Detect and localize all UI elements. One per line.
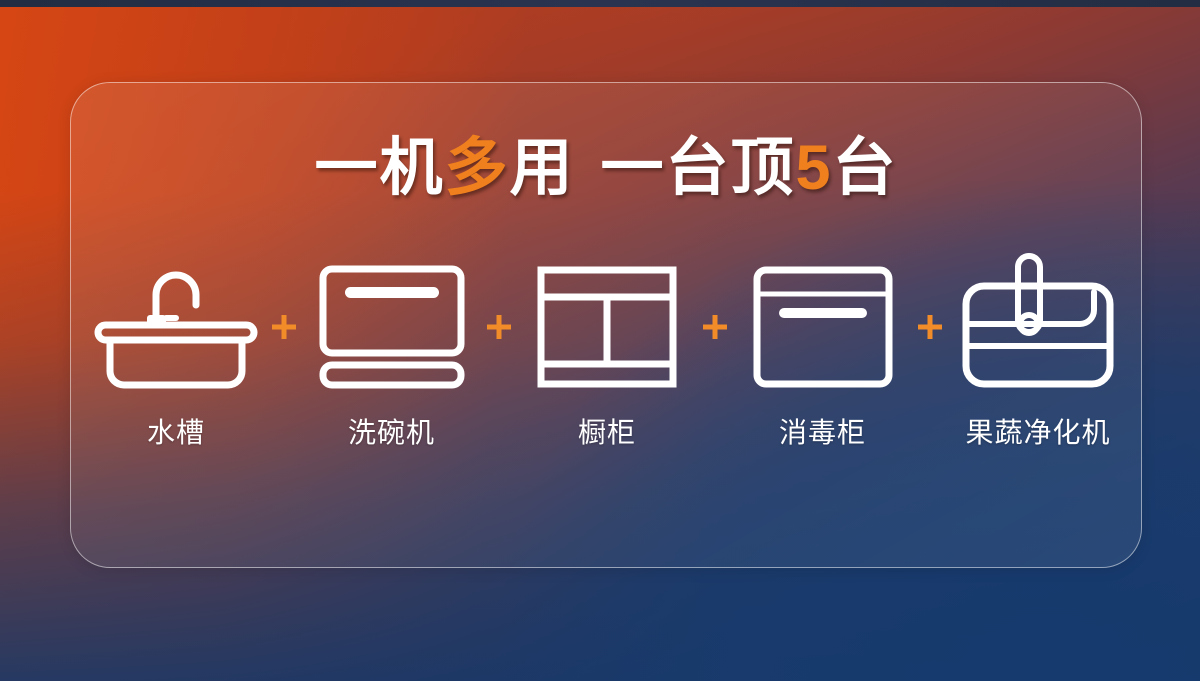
sterilizer-cabinet-icon — [753, 259, 893, 394]
title-accent-2: 5 — [795, 133, 832, 203]
feature-item-sterilizer: 消毒柜 — [738, 259, 908, 451]
fruit-vegetable-purifier-icon — [958, 259, 1118, 394]
title-part-3: 一台顶 — [600, 133, 795, 203]
title-part-2: 用 — [509, 133, 574, 203]
promo-banner: 一机多用一台顶5台 水槽 — [0, 0, 1200, 681]
plus-icon — [482, 259, 516, 394]
feature-item-dishwasher: 洗碗机 — [307, 259, 477, 451]
top-edge-strip — [0, 0, 1200, 7]
sink-icon — [94, 259, 258, 394]
plus-icon — [913, 259, 947, 394]
plus-icon — [267, 259, 301, 394]
feature-card: 一机多用一台顶5台 水槽 — [70, 82, 1142, 568]
feature-item-row: 水槽 洗碗机 — [91, 259, 1123, 451]
feature-item-cabinet: 橱柜 — [522, 259, 692, 451]
feature-item-label: 橱柜 — [578, 411, 636, 451]
feature-item-label: 水槽 — [147, 411, 205, 451]
feature-item-label: 洗碗机 — [348, 411, 435, 451]
feature-item-sink: 水槽 — [91, 259, 261, 451]
page-title: 一机多用一台顶5台 — [71, 137, 1141, 200]
feature-item-purifier: 果蔬净化机 — [953, 259, 1123, 451]
plus-icon — [698, 259, 732, 394]
title-part-1: 一机 — [314, 133, 444, 203]
feature-item-label: 果蔬净化机 — [965, 411, 1110, 451]
dishwasher-icon — [319, 259, 465, 394]
title-accent-1: 多 — [444, 133, 509, 203]
title-part-4: 台 — [833, 133, 898, 203]
feature-item-label: 消毒柜 — [779, 411, 866, 451]
cabinet-icon — [537, 259, 677, 394]
